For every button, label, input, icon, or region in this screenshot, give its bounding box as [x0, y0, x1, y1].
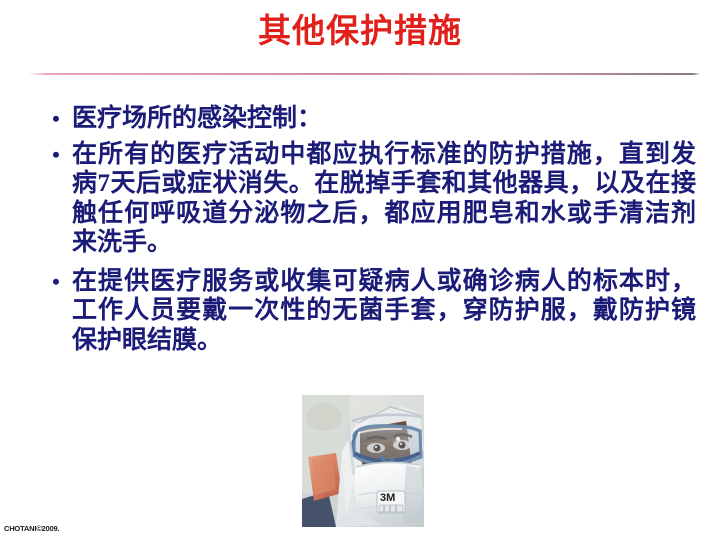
list-item-text: 医疗场所的感染控制：: [72, 104, 696, 134]
healthcare-worker-photo: 3M: [302, 395, 424, 527]
list-item: • 在所有的医疗活动中都应执行标准的防护措施，直到发病7天后或症状消失。在脱掉手…: [44, 140, 696, 258]
bullet-marker-icon: •: [49, 104, 63, 134]
list-item: • 医疗场所的感染控制：: [44, 104, 696, 134]
list-item-text: 在所有的医疗活动中都应执行标准的防护措施，直到发病7天后或症状消失。在脱掉手套和…: [72, 140, 696, 258]
bullet-marker-icon: •: [49, 140, 63, 170]
bullet-list: • 医疗场所的感染控制： • 在所有的医疗活动中都应执行标准的防护措施，直到发病…: [44, 104, 696, 355]
healthcare-worker-photo-graphic: 3M: [302, 395, 424, 527]
presentation-slide: 其他保护措施 • 医疗场所的感染控制： • 在所有的医疗活动中都应执行标准的防护…: [0, 0, 720, 540]
footer-credit: CHOTANI©2009.: [4, 524, 59, 534]
list-item: • 在提供医疗服务或收集可疑病人或确诊病人的标本时，工作人员要戴一次性的无菌手套…: [44, 267, 696, 356]
list-item-text: 在提供医疗服务或收集可疑病人或确诊病人的标本时，工作人员要戴一次性的无菌手套，穿…: [72, 267, 696, 356]
title-divider-rule: [28, 73, 700, 75]
respirator-brand-label: 3M: [380, 492, 395, 504]
bullet-marker-icon: •: [49, 267, 63, 297]
slide-title: 其他保护措施: [0, 12, 720, 52]
